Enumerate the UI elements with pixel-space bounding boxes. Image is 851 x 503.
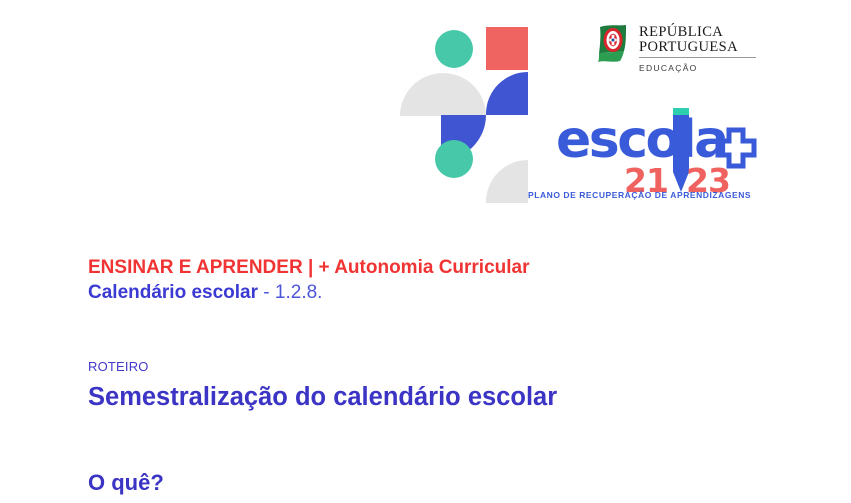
- kicker-block: ENSINAR E APRENDER | + Autonomia Curricu…: [88, 255, 530, 305]
- republica-line-1: REPÚBLICA: [639, 25, 756, 40]
- kicker-subtopic-name: Calendário escolar: [88, 282, 258, 303]
- shape-dome-grey: [400, 73, 486, 116]
- republica-department-label: EDUCAÇÃO: [639, 63, 756, 73]
- escola-wordmark: escola: [556, 114, 727, 166]
- shape-quarter-blue-upper: [486, 72, 528, 115]
- shape-circle-teal-top: [435, 30, 473, 68]
- header-banner: REPÚBLICA PORTUGUESA EDUCAÇÃO escola 21 …: [0, 0, 851, 232]
- kicker-domain-line: ENSINAR E APRENDER | + Autonomia Curricu…: [88, 255, 530, 280]
- shape-circle-teal-bottom: [435, 140, 473, 178]
- pencil-eraser: [673, 108, 689, 115]
- roteiro-label: ROTEIRO: [88, 359, 149, 375]
- republica-portuguesa-logo: REPÚBLICA PORTUGUESA EDUCAÇÃO: [596, 24, 756, 86]
- portuguese-coat-of-arms-icon: [596, 24, 630, 64]
- kicker-subtopic-code: - 1.2.8.: [258, 282, 322, 303]
- escola-tagline: PLANO DE RECUPERAÇÃO DE APRENDIZAGENS: [528, 190, 751, 200]
- page-title: Semestralização do calendário escolar: [88, 381, 557, 413]
- shape-quarter-grey-lower: [486, 160, 528, 203]
- section-heading-o-que: O quê?: [88, 468, 164, 498]
- republica-divider: [639, 57, 756, 58]
- decorative-geometric-pattern: [400, 15, 530, 205]
- kicker-subtopic-line: Calendário escolar - 1.2.8.: [88, 280, 530, 305]
- republica-wordmark: REPÚBLICA PORTUGUESA EDUCAÇÃO: [639, 24, 756, 73]
- escola-mais-logo: escola 21 23 PLANO DE RECUPERAÇÃO DE APR…: [528, 108, 760, 204]
- republica-line-2: PORTUGUESA: [639, 40, 756, 55]
- shape-square-red: [486, 27, 528, 70]
